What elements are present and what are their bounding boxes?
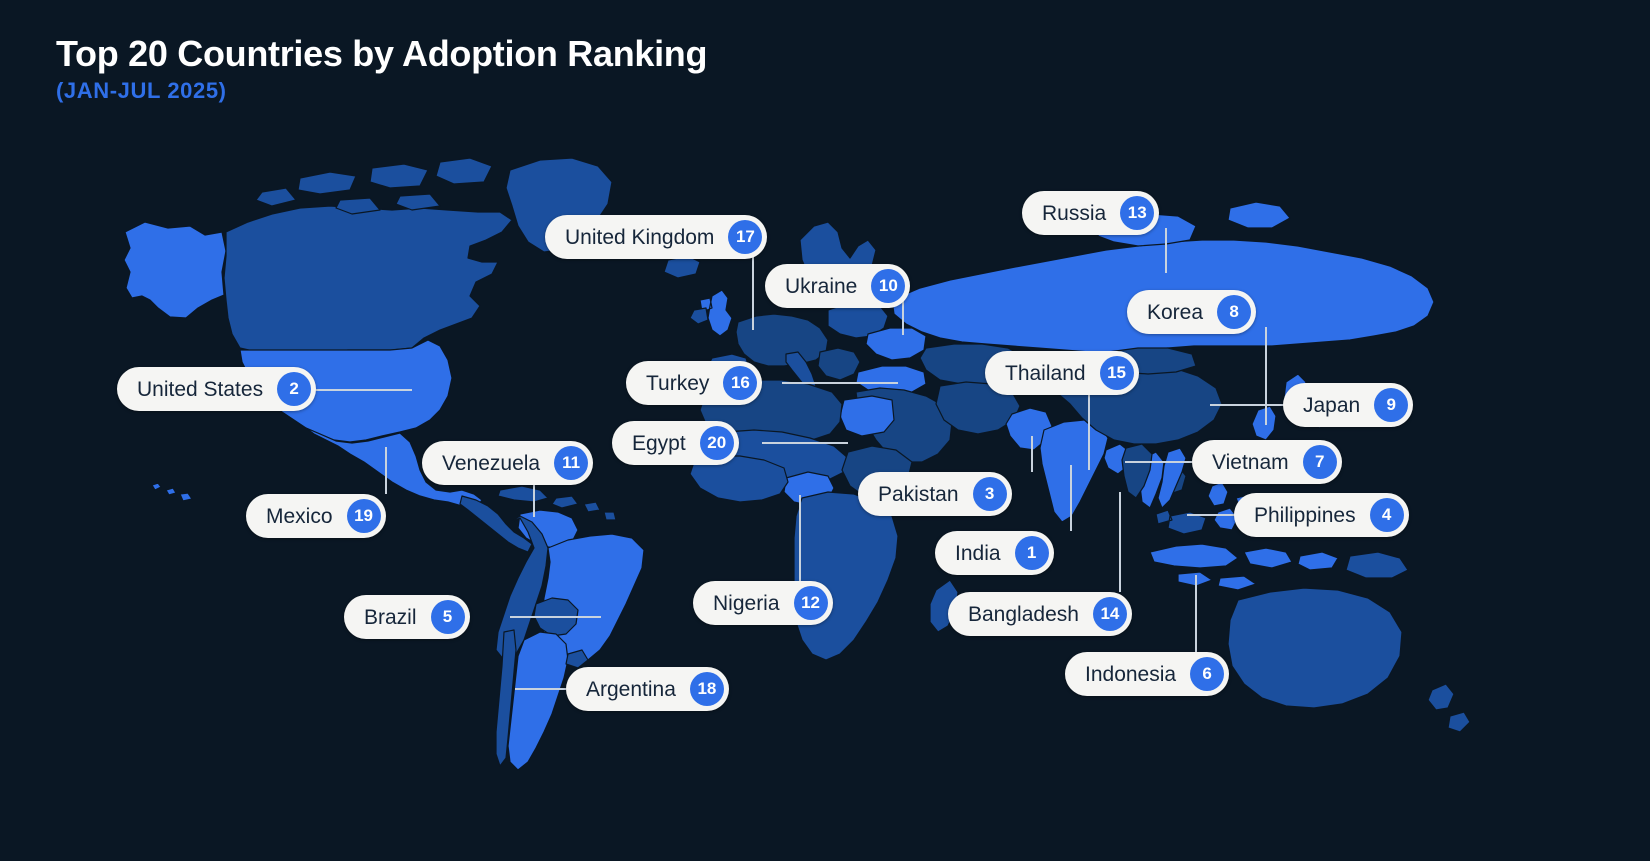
rank-badge: 7 [1303,445,1337,479]
country-label-mexico[interactable]: Mexico19 [246,494,386,538]
country-label-text: Vietnam [1212,452,1289,473]
country-label-text: Korea [1147,302,1203,323]
country-label-nigeria[interactable]: Nigeria12 [693,581,833,625]
country-label-text: Bangladesh [968,604,1079,625]
rank-badge: 19 [347,499,381,533]
rank-badge: 2 [277,372,311,406]
rank-badge: 16 [723,366,757,400]
world-map-svg [0,0,1650,861]
rank-badge: 12 [794,586,828,620]
country-label-philippines[interactable]: Philippines4 [1234,493,1409,537]
rank-badge: 3 [973,477,1007,511]
country-label-text: Pakistan [878,484,959,505]
rank-badge: 5 [431,600,465,634]
page-title: Top 20 Countries by Adoption Ranking [56,34,707,74]
country-label-pakistan[interactable]: Pakistan3 [858,472,1012,516]
country-iceland [664,256,700,278]
country-label-argentina[interactable]: Argentina18 [566,667,729,711]
header: Top 20 Countries by Adoption Ranking (JA… [56,34,707,105]
country-label-text: Brazil [364,607,417,628]
rank-badge: 6 [1190,657,1224,691]
country-label-text: Argentina [586,679,676,700]
country-label-egypt[interactable]: Egypt20 [612,421,739,465]
country-label-text: Indonesia [1085,664,1176,685]
rank-badge: 15 [1100,356,1134,390]
country-label-text: United Kingdom [565,227,714,248]
rank-badge: 10 [871,269,905,303]
country-label-turkey[interactable]: Turkey16 [626,361,762,405]
country-label-thailand[interactable]: Thailand15 [985,351,1139,395]
rank-badge: 1 [1015,536,1049,570]
country-label-korea[interactable]: Korea8 [1127,290,1256,334]
country-label-text: Thailand [1005,363,1086,384]
country-label-text: Nigeria [713,593,780,614]
rank-badge: 20 [700,426,734,460]
country-label-text: United States [137,379,263,400]
page-subtitle: (JAN-JUL 2025) [56,78,707,104]
rank-badge: 17 [728,220,762,254]
country-label-united-states[interactable]: United States2 [117,367,316,411]
country-label-japan[interactable]: Japan9 [1283,383,1413,427]
country-label-india[interactable]: India1 [935,531,1054,575]
country-label-text: Mexico [266,506,333,527]
country-label-text: Japan [1303,395,1360,416]
rank-badge: 4 [1370,498,1404,532]
rank-badge: 18 [690,672,724,706]
country-label-vietnam[interactable]: Vietnam7 [1192,440,1342,484]
country-label-russia[interactable]: Russia13 [1022,191,1159,235]
country-label-text: Venezuela [442,453,540,474]
country-label-text: Russia [1042,203,1106,224]
rank-badge: 8 [1217,295,1251,329]
infographic-canvas: United Kingdom17Russia13Ukraine10Korea8T… [0,0,1650,861]
country-label-ukraine[interactable]: Ukraine10 [765,264,910,308]
country-label-text: Turkey [646,373,709,394]
country-label-united-kingdom[interactable]: United Kingdom17 [545,215,767,259]
country-label-bangladesh[interactable]: Bangladesh14 [948,592,1132,636]
country-label-text: Philippines [1254,505,1356,526]
country-label-brazil[interactable]: Brazil5 [344,595,470,639]
country-label-indonesia[interactable]: Indonesia6 [1065,652,1229,696]
country-egypt [840,396,894,436]
country-label-text: India [955,543,1001,564]
country-label-venezuela[interactable]: Venezuela11 [422,441,593,485]
world-map-container [0,0,1650,861]
rank-badge: 9 [1374,388,1408,422]
rank-badge: 11 [554,446,588,480]
rank-badge: 13 [1120,196,1154,230]
country-label-text: Ukraine [785,276,857,297]
country-label-text: Egypt [632,433,686,454]
rank-badge: 14 [1093,597,1127,631]
